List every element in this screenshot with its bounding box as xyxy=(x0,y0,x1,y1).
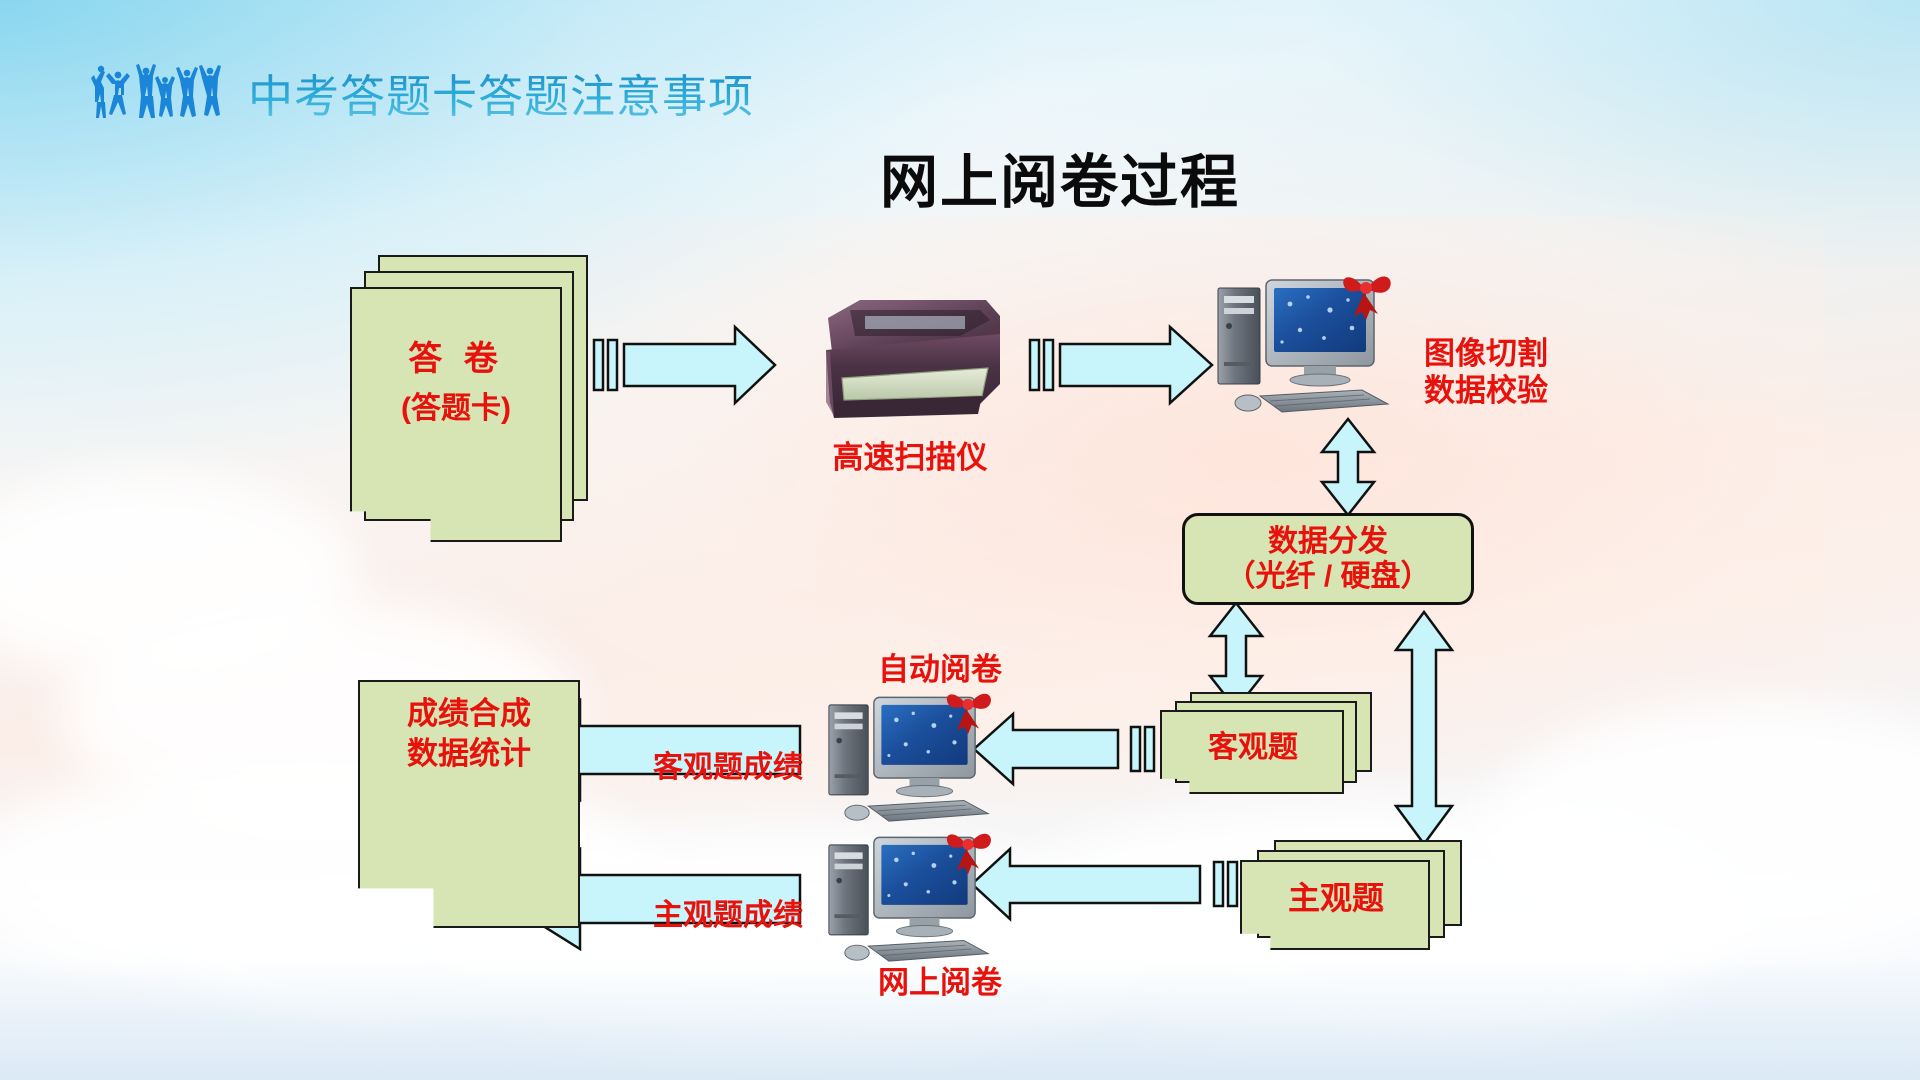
subjective-questions-stack: 主观题 xyxy=(1240,840,1470,955)
scanner-icon xyxy=(810,292,1010,432)
answer-sheet-line1: 答 卷 xyxy=(350,331,562,380)
result-box: 成绩合成 数据统计 xyxy=(358,680,598,950)
jumping-people-silhouette-icon xyxy=(88,62,233,124)
answer-sheet-line2: (答题卡) xyxy=(350,383,562,427)
red-ribbon-icon xyxy=(938,684,998,736)
result-line2: 数据统计 xyxy=(358,736,580,773)
image-process-label: 图像切割 数据校验 xyxy=(1424,336,1684,409)
header-title: 中考答题卡答题注意事项 xyxy=(248,60,754,125)
objective-questions-stack: 客观题 xyxy=(1160,692,1380,802)
result-line1: 成绩合成 xyxy=(358,696,580,733)
online-grading-label: 网上阅卷 xyxy=(790,965,1090,1002)
data-distribution-line1: 数据分发 xyxy=(1225,524,1430,559)
objective-score-label: 客观题成绩 xyxy=(618,750,838,785)
slide-canvas: 中考答题卡答题注意事项 网上阅卷过程 .ar{fill:#c7f5fb;stro… xyxy=(0,0,1920,1080)
data-distribution-box: 数据分发 （光纤 / 硬盘） xyxy=(1182,513,1474,605)
answer-sheet-stack: 答 卷 (答题卡) xyxy=(350,255,600,545)
scanner-label: 高速扫描仪 xyxy=(760,440,1060,477)
subjective-score-label: 主观题成绩 xyxy=(618,898,838,933)
data-distribution-line2: （光纤 / 硬盘） xyxy=(1225,559,1430,594)
red-ribbon-icon xyxy=(938,824,998,876)
objective-questions-label: 客观题 xyxy=(1160,730,1346,765)
subjective-questions-label: 主观题 xyxy=(1240,880,1432,918)
red-ribbon-icon xyxy=(1334,266,1398,322)
page-title: 网上阅卷过程 xyxy=(0,135,1920,219)
